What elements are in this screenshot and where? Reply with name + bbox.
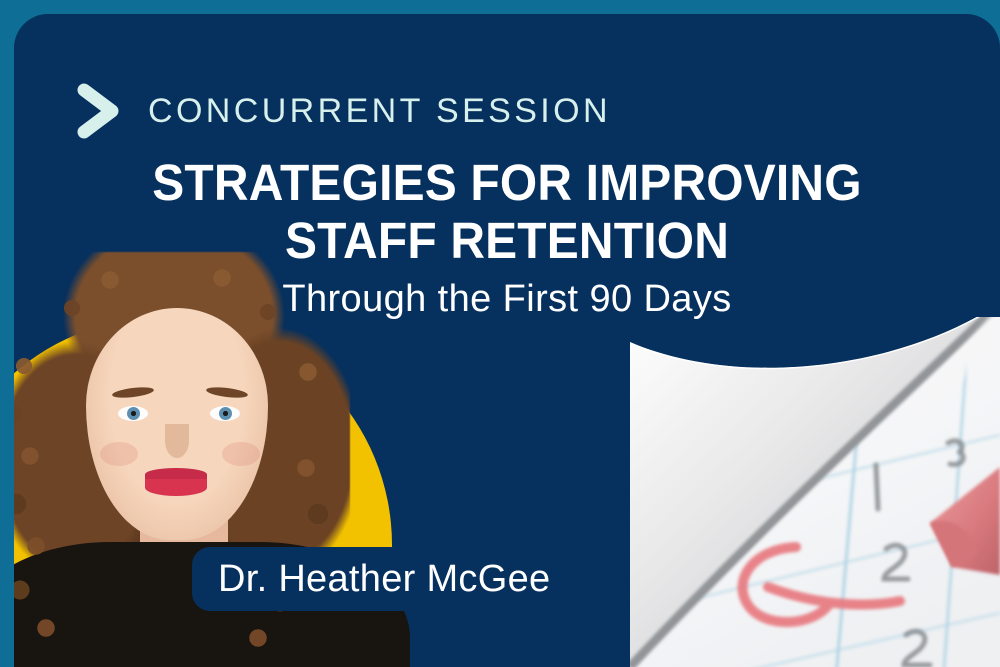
page-title: STRATEGIES FOR IMPROVING STAFF RETENTION — [44, 154, 971, 270]
navy-card-panel: CONCURRENT SESSION STRATEGIES FOR IMPROV… — [14, 14, 1000, 667]
eyebrow-label: CONCURRENT SESSION — [148, 92, 611, 131]
eyebrow-row: CONCURRENT SESSION — [76, 82, 611, 140]
session-promo-slide: CONCURRENT SESSION STRATEGIES FOR IMPROV… — [0, 0, 1000, 667]
speaker-name: Dr. Heather McGee — [192, 558, 550, 601]
title-line-2: STAFF RETENTION — [44, 212, 971, 270]
chevron-right-icon — [76, 82, 122, 140]
speaker-name-plaque: Dr. Heather McGee — [192, 547, 652, 611]
title-line-1: STRATEGIES FOR IMPROVING — [44, 154, 971, 212]
page-curl-photo-corner — [600, 317, 1000, 667]
page-subtitle: Through the First 90 Days — [14, 278, 1000, 321]
